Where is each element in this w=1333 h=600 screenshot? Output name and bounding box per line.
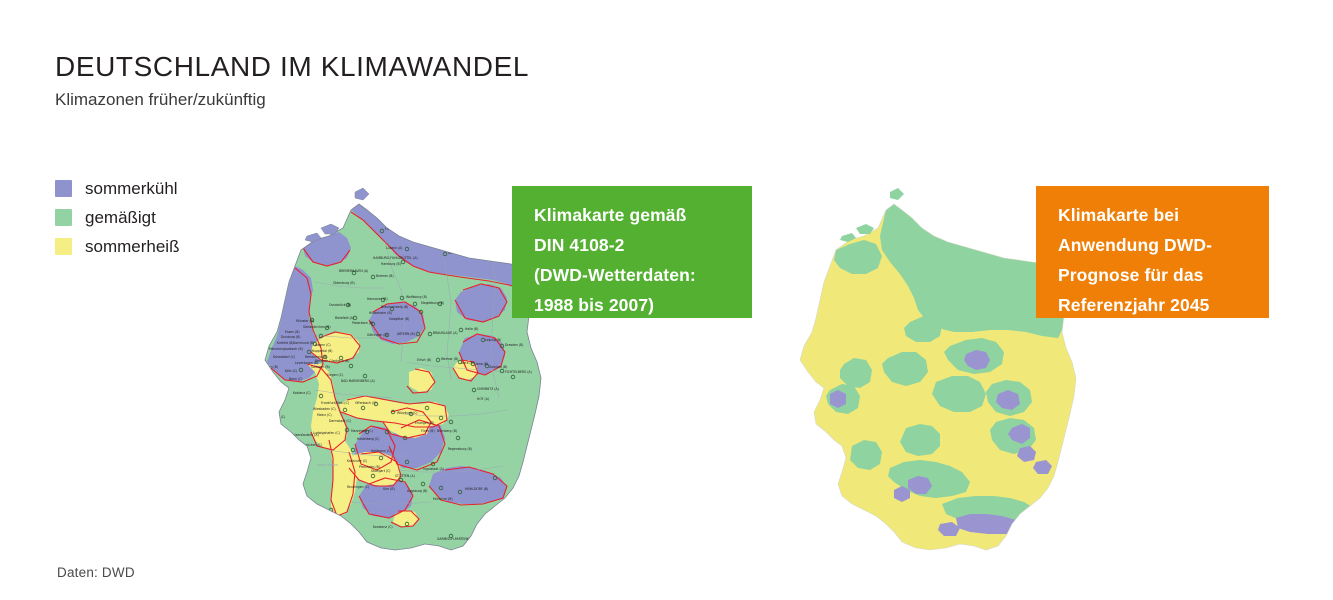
- svg-text:Gera (B): Gera (B): [461, 361, 474, 365]
- svg-text:Offenbach (C): Offenbach (C): [355, 401, 377, 405]
- legend-label-sommerkuehl: sommerkühl: [85, 179, 178, 199]
- svg-text:HOF (A): HOF (A): [477, 397, 489, 401]
- source-note: Daten: DWD: [57, 565, 135, 580]
- svg-text:Hannover (B): Hannover (B): [367, 297, 388, 301]
- callout-forecast-line-3: Prognose für das: [1058, 260, 1251, 290]
- svg-text:Heilbronn (C): Heilbronn (C): [371, 449, 392, 453]
- svg-text:Ulm (B): Ulm (B): [383, 487, 395, 491]
- svg-text:MÜHLDORF (B): MÜHLDORF (B): [465, 486, 488, 491]
- map-historic: Flensburg (A) Lübeck (A) HAMBURG-FUHLSBÜ…: [255, 132, 555, 566]
- svg-text:Wuppertal (B): Wuppertal (B): [311, 349, 333, 353]
- svg-text:Hamburg (B): Hamburg (B): [381, 262, 401, 266]
- svg-text:Duisburg (B): Duisburg (B): [281, 335, 300, 339]
- svg-text:Osnabrück (B): Osnabrück (B): [329, 303, 351, 307]
- svg-text:Hildesheim (B): Hildesheim (B): [369, 311, 392, 315]
- legend-item-sommerkuehl: sommerkühl: [55, 174, 265, 203]
- callout-forecast-line-4: Referenzjahr 2045: [1058, 290, 1251, 320]
- svg-text:Siegen (C): Siegen (C): [327, 373, 343, 377]
- svg-text:FICHTELBERG (A): FICHTELBERG (A): [505, 370, 532, 374]
- svg-text:Reutlingen (C): Reutlingen (C): [347, 485, 369, 489]
- svg-text:Konstanz (C): Konstanz (C): [373, 525, 393, 529]
- svg-text:Erlangen (B): Erlangen (B): [415, 421, 434, 425]
- svg-text:Halle (B): Halle (B): [465, 327, 478, 331]
- svg-text:BREMERHAVEN (A): BREMERHAVEN (A): [339, 269, 368, 273]
- header: DEUTSCHLAND IM KLIMAWANDEL Klimazonen fr…: [55, 50, 755, 112]
- svg-text:Freiburg (C): Freiburg (C): [303, 509, 321, 513]
- callout-historic-line-2: DIN 4108-2: [534, 230, 734, 260]
- svg-text:Zwickau (B): Zwickau (B): [489, 365, 507, 369]
- svg-text:HAMBURG-FUHLSBÜTTEL (A): HAMBURG-FUHLSBÜTTEL (A): [373, 255, 418, 260]
- callout-historic-line-1: Klimakarte gemäß: [534, 200, 734, 230]
- svg-text:ARTERN (B): ARTERN (B): [397, 332, 415, 336]
- svg-text:Lübeck (A): Lübeck (A): [386, 246, 403, 250]
- svg-text:Dortmund (B): Dortmund (B): [293, 341, 314, 345]
- page-title: DEUTSCHLAND IM KLIMAWANDEL: [55, 50, 755, 84]
- svg-text:Wolfsburg (B): Wolfsburg (B): [406, 295, 427, 299]
- svg-text:Regensburg (B): Regensburg (B): [448, 447, 472, 451]
- legend-item-gemaessigt: gemäßigt: [55, 203, 265, 232]
- callout-forecast-line-1: Klimakarte bei: [1058, 200, 1251, 230]
- legend-swatch-sommerkuehl: [55, 180, 72, 197]
- svg-text:Jena (B): Jena (B): [475, 362, 488, 366]
- svg-text:Passau (B): Passau (B): [523, 471, 539, 475]
- svg-text:Krefeld (B): Krefeld (B): [277, 341, 293, 345]
- svg-text:Paderborn (B): Paderborn (B): [352, 321, 373, 325]
- legend-item-sommerheiss: sommerheiß: [55, 232, 265, 261]
- legend-label-sommerheiss: sommerheiß: [85, 237, 179, 257]
- svg-text:Hagen (C): Hagen (C): [315, 343, 331, 347]
- svg-text:Gelsenkirchen (B): Gelsenkirchen (B): [303, 325, 331, 329]
- svg-text:Heidelberg (C): Heidelberg (C): [357, 437, 379, 441]
- svg-text:Trier (C): Trier (C): [272, 415, 285, 419]
- svg-text:Darmstadt (C): Darmstadt (C): [329, 419, 351, 423]
- svg-text:Bremen (B): Bremen (B): [376, 274, 394, 278]
- svg-text:Leipzig (B): Leipzig (B): [485, 338, 501, 342]
- svg-text:München (B): München (B): [433, 497, 453, 501]
- svg-text:Göttingen (B): Göttingen (B): [367, 333, 388, 337]
- map-historic-graphic: Flensburg (A) Lübeck (A) HAMBURG-FUHLSBÜ…: [255, 132, 555, 566]
- svg-text:Erfurt (B): Erfurt (B): [417, 358, 431, 362]
- svg-text:Fürth (B): Fürth (B): [421, 429, 435, 433]
- svg-text:Wiesbaden (C): Wiesbaden (C): [313, 407, 336, 411]
- svg-text:CHEMNITZ (A): CHEMNITZ (A): [477, 387, 499, 391]
- svg-text:Mönchengladbach (B): Mönchengladbach (B): [269, 347, 303, 351]
- svg-text:Münster (B): Münster (B): [296, 319, 314, 323]
- svg-text:Solingen (B): Solingen (B): [311, 365, 330, 369]
- svg-text:Köln (C): Köln (C): [285, 369, 297, 373]
- svg-text:Braunschweig (B): Braunschweig (B): [381, 305, 408, 309]
- svg-text:Ingolstadt (A): Ingolstadt (A): [423, 467, 444, 471]
- callout-historic: Klimakarte gemäß DIN 4108-2 (DWD-Wetterd…: [512, 186, 752, 318]
- legend-swatch-gemaessigt: [55, 209, 72, 226]
- svg-text:Würzburg (C): Würzburg (C): [397, 411, 417, 415]
- svg-text:BAD MARIENBERG (A): BAD MARIENBERG (A): [341, 379, 375, 383]
- svg-text:Bielefeld (A): Bielefeld (A): [335, 316, 354, 320]
- callout-historic-line-4: 1988 bis 2007): [534, 290, 734, 320]
- svg-text:NEUBRANDENBURG (A): NEUBRANDENBURG (A): [449, 241, 485, 245]
- svg-text:Karlsruhe (C): Karlsruhe (C): [347, 459, 367, 463]
- svg-text:Salzgitter (B): Salzgitter (B): [389, 317, 409, 321]
- svg-text:Magdeburg (B): Magdeburg (B): [421, 301, 444, 305]
- svg-text:Augsburg (B): Augsburg (B): [407, 489, 427, 493]
- legend-label-gemaessigt: gemäßigt: [85, 208, 156, 228]
- svg-text:Stuttgart (C): Stuttgart (C): [371, 469, 390, 473]
- svg-text:Koblenz (C): Koblenz (C): [293, 391, 311, 395]
- legend-swatch-sommerheiss: [55, 238, 72, 255]
- callout-forecast: Klimakarte bei Anwendung DWD- Prognose f…: [1036, 186, 1269, 318]
- svg-text:Nürnberg (B): Nürnberg (B): [437, 429, 457, 433]
- svg-text:Mainz (C): Mainz (C): [317, 413, 332, 417]
- svg-text:Frankfurt/Main (C): Frankfurt/Main (C): [321, 401, 349, 405]
- svg-text:STÖTTEN (A): STÖTTEN (A): [395, 473, 415, 478]
- svg-text:Bergisch Gladbach (B): Bergisch Gladbach (B): [315, 359, 349, 363]
- callout-forecast-line-2: Anwendung DWD-: [1058, 230, 1251, 260]
- svg-text:Bonn (C): Bonn (C): [289, 377, 303, 381]
- page-subtitle: Klimazonen früher/zukünftig: [55, 88, 755, 112]
- svg-text:Dresden (B): Dresden (B): [505, 343, 523, 347]
- svg-text:Oldenburg (B): Oldenburg (B): [333, 281, 355, 285]
- svg-text:Saarbrücken (C): Saarbrücken (C): [297, 443, 322, 447]
- svg-text:GARMISCH-PARTENKIRCHEN (A): GARMISCH-PARTENKIRCHEN (A): [437, 537, 486, 541]
- svg-text:Düsseldorf (C): Düsseldorf (C): [273, 355, 295, 359]
- legend: sommerkühl gemäßigt sommerheiß: [55, 174, 265, 261]
- svg-text:Mannheim (C): Mannheim (C): [351, 429, 373, 433]
- svg-text:Baden-Baden: Baden-Baden: [317, 463, 338, 467]
- svg-text:Essen (B): Essen (B): [285, 330, 300, 334]
- svg-text:Leverkusen (B): Leverkusen (B): [295, 361, 318, 365]
- svg-text:Weimar (B): Weimar (B): [441, 357, 458, 361]
- callout-historic-line-3: (DWD-Wetterdaten:: [534, 260, 734, 290]
- svg-text:BRAUNLAGE (A): BRAUNLAGE (A): [433, 331, 458, 335]
